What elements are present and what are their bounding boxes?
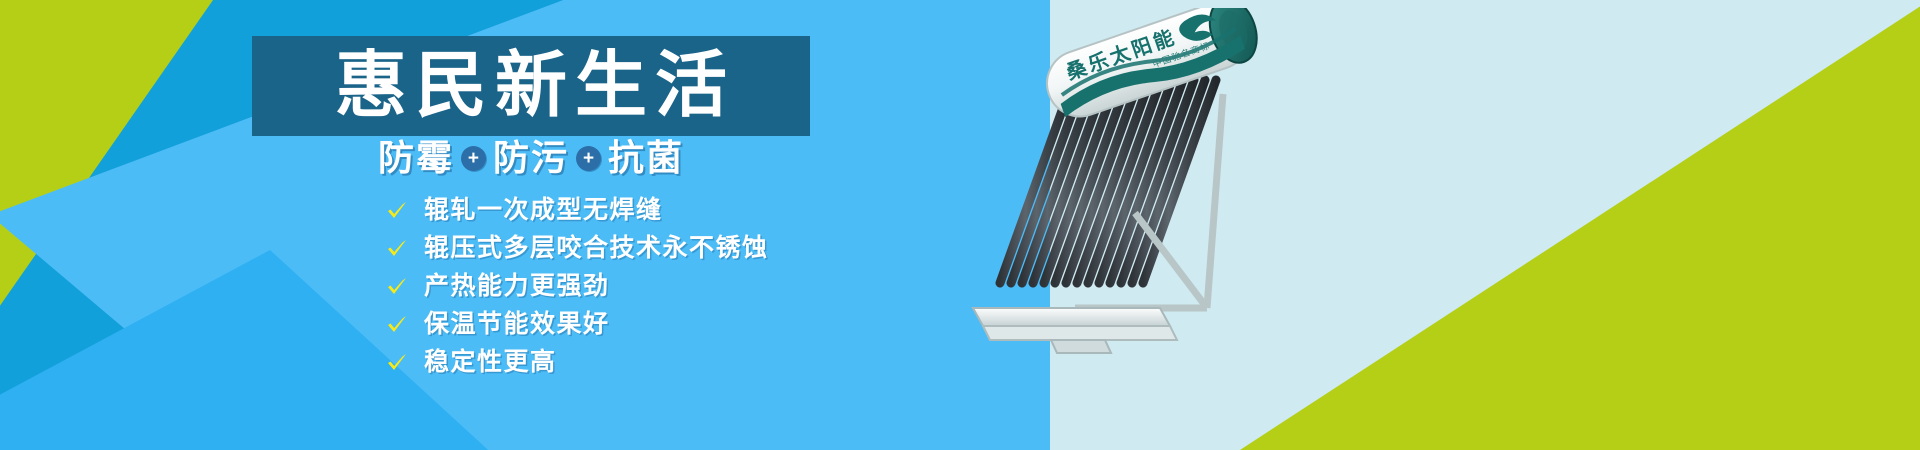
list-item: 辊压式多层咬合技术永不锈蚀 xyxy=(386,234,769,263)
base-rails xyxy=(973,308,1177,353)
check-icon xyxy=(386,200,408,222)
page-title: 惠民新生活 xyxy=(327,50,735,122)
subtitle-word-2: 防污 xyxy=(493,140,569,176)
check-icon xyxy=(386,352,408,374)
list-item-label: 保温节能效果好 xyxy=(424,312,610,337)
list-item: 产热能力更强劲 xyxy=(386,272,769,301)
list-item: 保温节能效果好 xyxy=(386,310,769,339)
list-item-label: 稳定性更高 xyxy=(424,350,557,375)
check-icon xyxy=(386,238,408,260)
list-item: 稳定性更高 xyxy=(386,348,769,377)
list-item: 辊轧一次成型无焊缝 xyxy=(386,196,769,225)
list-item-label: 辊轧一次成型无焊缝 xyxy=(424,198,663,223)
subtitle-row: 防霉 + 防污 + 抗菌 xyxy=(252,140,810,176)
list-item-label: 产热能力更强劲 xyxy=(424,274,610,299)
headline-block: 惠民新生活 xyxy=(252,36,810,136)
evacuated-tube-array xyxy=(1000,80,1216,283)
plus-icon-1: + xyxy=(461,146,486,171)
list-item-label: 辊压式多层咬合技术永不锈蚀 xyxy=(424,236,769,261)
check-icon xyxy=(386,314,408,336)
subtitle-word-3: 抗菌 xyxy=(608,140,684,176)
subtitle-word-1: 防霉 xyxy=(378,140,454,176)
check-icon xyxy=(386,276,408,298)
promo-banner: 惠民新生活 防霉 + 防污 + 抗菌 辊轧一次成型无焊缝 辊压式多层咬合技术永不… xyxy=(0,0,1920,450)
feature-list: 辊轧一次成型无焊缝 辊压式多层咬合技术永不锈蚀 产热能力更强劲 保温节能效果好 … xyxy=(386,196,769,377)
product-image-solar-water-heater: 桑乐太阳能 中国驰名商标 xyxy=(955,8,1285,368)
plus-icon-2: + xyxy=(576,146,601,171)
